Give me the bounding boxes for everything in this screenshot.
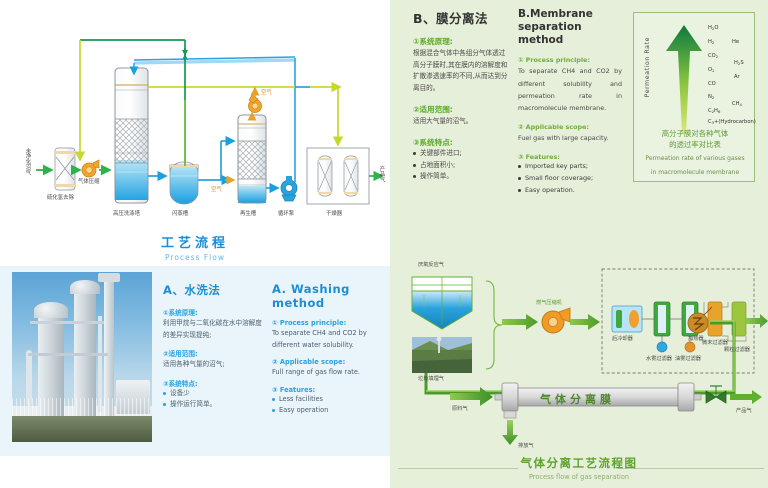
membrane-en-s3-head: ③ Features: (518, 153, 622, 161)
gas-separation-title-en: Process flow of gas separation (390, 473, 768, 481)
membrane-en-s2-body: Fuel gas with large capacity. (518, 132, 622, 144)
label-gas-compression: 气体压缩 (78, 180, 100, 185)
membrane-cn-s2-body: 适用大气量的沼气。 (413, 116, 508, 128)
permeation-rate-axis-label: Permeation Rate (644, 37, 651, 97)
photo-tower-2-cap (70, 280, 100, 294)
membrane-cn-s3-li3: 操作简单。 (413, 171, 508, 183)
washing-en-s3-head: ③ Features: (272, 386, 386, 394)
gas-ar: Ar (734, 74, 740, 80)
membrane-en-title: B.Membrane separation method (518, 8, 622, 47)
washing-cn-s2-head: ②适用范围: (163, 348, 263, 358)
washing-cn-s1-head: ①系统原理: (163, 307, 263, 317)
plant-photo (12, 272, 152, 442)
washing-cn-title: A、水洗法 (163, 282, 263, 298)
washing-method-cn: A、水洗法 ①系统原理: 利用甲烷与二氧化碳在水中溶解度的差异实现提纯; ②适用… (163, 282, 263, 410)
membrane-en-s3-li2: Small floor coverage; (518, 173, 622, 185)
washing-cn-s3-li1: 设备少 (163, 388, 263, 399)
membrane-cn-s2-head: ②适用范围: (413, 104, 508, 115)
gas-c3plus: C3+(Hydrocarbon) (708, 119, 756, 125)
photo-deck-1 (28, 353, 108, 356)
process-flow-title: 工艺流程 Process Flow (0, 232, 390, 262)
label-regeneration-tank: 再生槽 (240, 212, 256, 217)
label-circulating-pump: 循环泵 (278, 212, 294, 217)
gas-separation-svg-lower (390, 255, 768, 455)
gas-co2: CO2 (708, 53, 718, 59)
washing-cn-s2-body: 适用各种气量的沼气; (163, 359, 263, 371)
photo-deck-2 (30, 321, 104, 324)
membrane-cn-s3-li1: 关键部件进口; (413, 148, 508, 160)
gas-he: He (732, 39, 739, 45)
membrane-en-s1-head: ① Process principle: (518, 56, 622, 64)
permeation-caption: 高分子膜对各种气体 的透过率对比表 Permeation rate of var… (634, 129, 756, 178)
process-flow-title-cn: 工艺流程 (0, 232, 390, 251)
gas-separation-title: 气体分离工艺流程图 Process flow of gas separation (390, 455, 768, 481)
photo-tower-1-cap (34, 302, 68, 318)
label-particle-filter: 颗粒过滤器 (724, 348, 750, 353)
washing-cn-s3-head: ③系统特点: (163, 378, 263, 388)
washing-en-s3-li1: Less facilities (272, 394, 386, 405)
label-oil-mist-filter: 油雾过滤器 (675, 357, 701, 362)
membrane-method-en: B.Membrane separation method ① Process p… (518, 8, 622, 197)
washing-cn-s3-li2: 操作运行简单。 (163, 399, 263, 410)
permeation-caption-en-2: in macromolecule membrane (634, 169, 756, 178)
washing-en-title: A. Washing method (272, 282, 386, 310)
permeation-caption-cn-1: 高分子膜对各种气体 (634, 129, 756, 140)
gas-separation-flow-diagram: 厌氧反应气 垃圾填埋气 燃气压缩机 后冷却器 水雾过滤器 油雾过滤器 微末过滤器… (390, 255, 768, 455)
label-flash-tank: 闪蒸槽 (172, 212, 188, 217)
membrane-cn-title: B、膜分离法 (413, 8, 508, 27)
label-dryer: 干燥器 (326, 212, 342, 217)
label-membrane-module: 气体分离膜 (540, 391, 615, 407)
label-product-gas-2: 产品气 (736, 409, 752, 414)
photo-stack-top (98, 273, 120, 282)
label-anaerobic-gas: 厌氧反应气 (418, 263, 444, 268)
gas-compressor-icon (82, 160, 99, 177)
permeation-rate-box: Permeation Rate H2O H2 He CO2 H2S O2 Ar … (633, 12, 755, 182)
air-blower-icon (249, 95, 262, 113)
washing-en-s1-body: To separate CH4 and CO2 by different wat… (272, 328, 386, 351)
label-feed-gas: 原料气 (452, 407, 468, 412)
gas-separation-title-cn: 气体分离工艺流程图 (390, 455, 768, 471)
membrane-en-s2-head: ② Applicable scope: (518, 123, 622, 131)
left-panel: 未净化沼气 硫化氢去除 气体压缩 高压洗涤塔 闪蒸槽 空气 空气 再生槽 循环泵… (0, 0, 390, 488)
photo-ground (12, 416, 152, 442)
label-raw-biogas: 未净化沼气 (24, 148, 29, 175)
membrane-cn-s1-body: 根据混合气体中各组分气体透过高分子膜时,其在膜内的溶解度和扩散渗透速率的不同,从… (413, 48, 508, 95)
valve-icon (706, 386, 726, 403)
label-fine-filter: 微末过滤器 (702, 341, 728, 346)
gas-o2: O2 (708, 67, 715, 73)
permeation-caption-cn-2: 的透过率对比表 (634, 140, 756, 151)
gas-n2: N2 (708, 94, 714, 100)
washing-en-s3-li2: Easy operation (272, 405, 386, 416)
washing-en-s2-head: ② Applicable scope: (272, 358, 386, 366)
label-h2s-removal: 硫化氢去除 (47, 196, 74, 201)
permeation-caption-en-1: Permeation rate of various gases (634, 155, 756, 164)
washing-cn-s1-body: 利用甲烷与二氧化碳在水中溶解度的差异实现提纯; (163, 318, 263, 341)
permeation-arrow-icon (656, 21, 716, 133)
membrane-method-cn: B、膜分离法 ①系统原理: 根据混合气体中各组分气体透过高分子膜时,其在膜内的溶… (413, 8, 508, 183)
label-product-gas: 产品气 (378, 166, 383, 182)
label-after-cooler: 后冷却器 (612, 337, 633, 342)
poster-page: 未净化沼气 硫化氢去除 气体压缩 高压洗涤塔 闪蒸槽 空气 空气 再生槽 循环泵… (0, 0, 768, 488)
gas-h2s: H2S (734, 60, 744, 66)
gas-co: CO (708, 81, 716, 87)
label-gas-compressor: 燃气压缩机 (536, 301, 562, 306)
label-air-out: 空气 (261, 91, 272, 96)
label-water-mist-filter: 水雾过滤器 (646, 357, 672, 362)
membrane-en-s3-li3: Easy operation. (518, 185, 622, 197)
membrane-cn-s1-head: ①系统原理: (413, 36, 508, 47)
washing-en-s1-head: ① Process principle: (272, 319, 386, 327)
washing-method-en: A. Washing method ① Process principle: T… (272, 282, 386, 416)
left-footer-area (0, 456, 390, 488)
gas-c2h6: C2H6 (708, 108, 720, 114)
washing-en-s2-body: Full range of gas flow rate. (272, 367, 386, 379)
membrane-en-s1-body: To separate CH4 and CO2 by different sol… (518, 65, 622, 114)
gas-ch4: CH4 (732, 101, 742, 107)
right-panel: B、膜分离法 ①系统原理: 根据混合气体中各组分气体透过高分子膜时,其在膜内的溶… (390, 0, 768, 488)
membrane-cn-s3-li2: 占地面积小; (413, 160, 508, 172)
heater-body (688, 313, 708, 333)
gas-h2o: H2O (708, 25, 718, 31)
membrane-cn-s3-head: ③系统特点: (413, 137, 508, 148)
label-vent-gas: 排放气 (518, 444, 534, 449)
label-air-in: 空气 (211, 188, 222, 193)
photo-stack (104, 278, 114, 418)
label-hp-scrubber: 高压洗涤塔 (113, 212, 140, 217)
label-heater: 加热器 (688, 337, 704, 342)
process-flow-diagram: 未净化沼气 硫化氢去除 气体压缩 高压洗涤塔 闪蒸槽 空气 空气 再生槽 循环泵… (0, 0, 390, 230)
gas-h2: H2 (708, 39, 714, 45)
label-landfill-gas: 垃圾填埋气 (418, 377, 444, 382)
membrane-en-s3-li1: Imported key parts; (518, 161, 622, 173)
process-flow-title-en: Process Flow (0, 253, 390, 262)
